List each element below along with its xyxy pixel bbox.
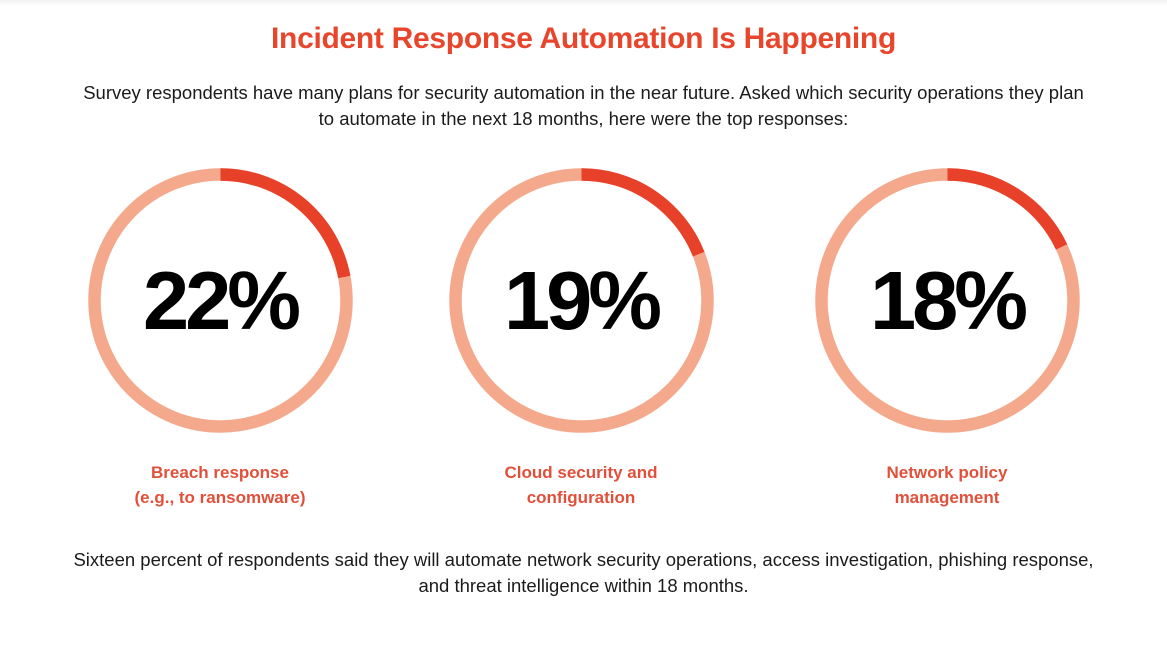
donut-label-1-line1: Cloud security and [416, 460, 746, 485]
donut-value-0: 22% [88, 168, 353, 433]
page-subtitle: Survey respondents have many plans for s… [83, 80, 1084, 133]
donut-label-1: Cloud security and configuration [416, 460, 746, 510]
donut-chart-1: 19% Cloud security and configuration [416, 168, 746, 518]
donut-label-0-line2: (e.g., to ransomware) [55, 485, 385, 510]
donut-ring-2: 18% [815, 168, 1080, 433]
footer-note: Sixteen percent of respondents said they… [63, 547, 1104, 600]
donut-label-0-line1: Breach response [55, 460, 385, 485]
donut-label-0: Breach response (e.g., to ransomware) [55, 460, 385, 510]
top-band [0, 0, 1167, 6]
donut-label-1-line2: configuration [416, 485, 746, 510]
donut-chart-0: 22% Breach response (e.g., to ransomware… [55, 168, 385, 518]
page-title: Incident Response Automation Is Happenin… [0, 22, 1167, 55]
donut-charts-row: 22% Breach response (e.g., to ransomware… [0, 168, 1167, 518]
donut-label-2: Network policy management [782, 460, 1112, 510]
donut-chart-2: 18% Network policy management [782, 168, 1112, 518]
donut-ring-1: 19% [449, 168, 714, 433]
infographic-page: Incident Response Automation Is Happenin… [0, 0, 1167, 649]
donut-label-2-line1: Network policy [782, 460, 1112, 485]
donut-value-1: 19% [449, 168, 714, 433]
donut-ring-0: 22% [88, 168, 353, 433]
donut-value-2: 18% [815, 168, 1080, 433]
donut-label-2-line2: management [782, 485, 1112, 510]
